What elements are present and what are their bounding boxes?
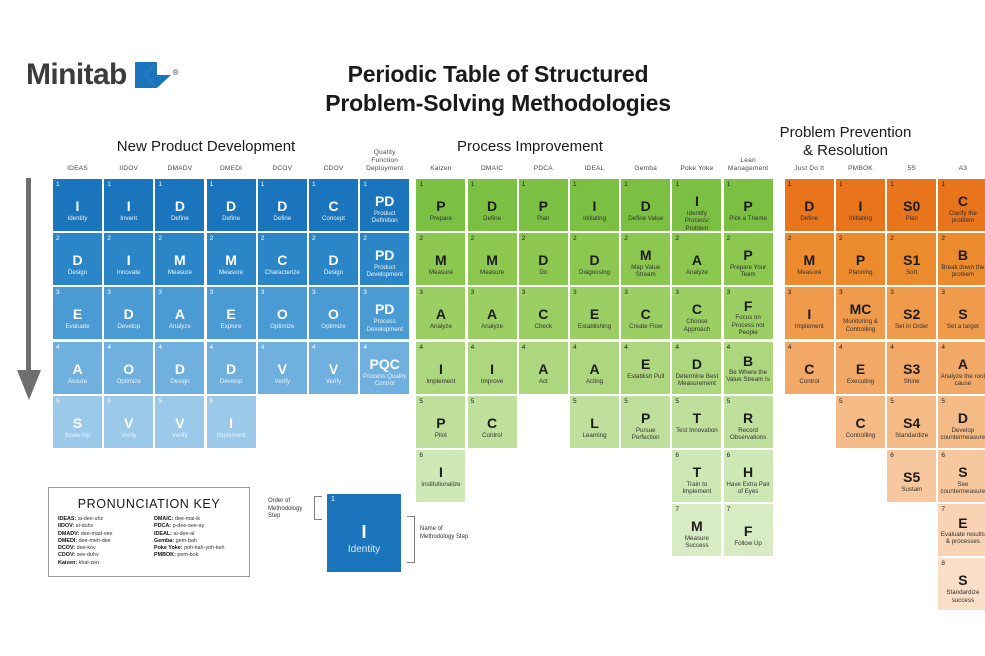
cell-step-number: 1 bbox=[419, 180, 423, 189]
infographic-canvas: Minitab ® Periodic Table of Structured P… bbox=[0, 0, 985, 656]
methodology-cell[interactable]: 4EEstablish Pull bbox=[621, 342, 670, 394]
pronunciation-entry: DCOV: dee-kov bbox=[58, 545, 144, 552]
cell-step-number: 4 bbox=[210, 343, 214, 352]
cell-symbol: M bbox=[416, 253, 465, 267]
cell-step-name: Learning bbox=[572, 432, 617, 439]
cell-step-number: 1 bbox=[675, 180, 679, 189]
column-header-line: Quality bbox=[353, 149, 416, 157]
legend-right-bracket bbox=[407, 516, 415, 563]
cell-step-name: Optimize bbox=[260, 323, 305, 330]
pronunciation-phonetic: pem-bok bbox=[176, 552, 198, 558]
cell-legend: Order of Methodology Step 1 I Identity N… bbox=[268, 486, 483, 578]
cell-symbol: PD bbox=[360, 302, 409, 316]
cell-symbol: M bbox=[672, 519, 721, 533]
cell-step-number: 1 bbox=[261, 180, 265, 189]
cell-step-name: Do bbox=[521, 269, 566, 276]
cell-step-name: Verify bbox=[157, 432, 202, 439]
methodology-cell[interactable]: 3OOptimize bbox=[309, 287, 358, 339]
pronunciation-phonetic: ai-duhv bbox=[74, 523, 93, 529]
cell-symbol: R bbox=[724, 411, 773, 425]
methodology-cell[interactable]: 7MMeasure Success bbox=[672, 504, 721, 556]
legend-sample-symbol: I bbox=[327, 522, 401, 543]
cell-step-number: 4 bbox=[522, 343, 526, 352]
pronunciation-term: IDEAL: bbox=[154, 531, 172, 537]
cell-symbol: I bbox=[416, 465, 465, 479]
methodology-cell[interactable]: 4AAssure bbox=[53, 342, 102, 394]
pronunciation-entry: IDEAS: ai-dee-uhz bbox=[58, 516, 144, 523]
methodology-cell[interactable]: 4AActing bbox=[570, 342, 619, 394]
column-header-line: Function bbox=[353, 157, 416, 165]
pronunciation-term: IDEAS: bbox=[58, 516, 76, 522]
methodology-cell[interactable]: 3IImplement bbox=[785, 287, 834, 339]
pronunciation-term: DMAIC: bbox=[154, 516, 173, 522]
cell-step-name: Verify bbox=[311, 378, 356, 385]
methodology-cell[interactable]: 1DDefine bbox=[468, 179, 517, 231]
cell-step-number: 3 bbox=[419, 288, 423, 297]
methodology-cell[interactable]: 6HHave Extra Pair of Eyes bbox=[724, 450, 773, 502]
cell-step-number: 3 bbox=[624, 288, 628, 297]
methodology-cell[interactable]: 4AAnalyze the root cause bbox=[938, 342, 985, 394]
cell-step-number: 2 bbox=[261, 234, 265, 243]
methodology-cell[interactable]: 1PPlan bbox=[519, 179, 568, 231]
cell-step-number: 2 bbox=[107, 234, 111, 243]
cell-step-number: 5 bbox=[471, 397, 475, 406]
methodology-cell[interactable]: 4IImprove bbox=[468, 342, 517, 394]
methodology-cell[interactable]: 5IImplement bbox=[207, 396, 256, 448]
pronunciation-phonetic: p-dee-see-ay bbox=[171, 523, 204, 529]
cell-step-number: 2 bbox=[312, 234, 316, 243]
methodology-cell[interactable]: 1IInitiating bbox=[570, 179, 619, 231]
cell-step-name: Control bbox=[787, 378, 832, 385]
cell-step-name: Follow Up bbox=[726, 540, 771, 547]
pronunciation-phonetic: dee-mad-vee bbox=[79, 531, 112, 537]
cell-symbol: A bbox=[519, 362, 568, 376]
methodology-cell[interactable]: 2IInnovate bbox=[104, 233, 153, 285]
cell-step-number: 4 bbox=[941, 343, 945, 352]
cell-symbol: E bbox=[53, 307, 102, 321]
methodology-cell[interactable]: 2MMeasure bbox=[155, 233, 204, 285]
cell-symbol: D bbox=[104, 307, 153, 321]
methodology-cell[interactable]: 3AAnalyze bbox=[416, 287, 465, 339]
cell-symbol: P bbox=[724, 248, 773, 262]
cell-symbol: D bbox=[938, 411, 985, 425]
cell-symbol: D bbox=[207, 362, 256, 376]
pronunciation-entry: DMAIC: dee-mai-ik bbox=[154, 516, 240, 523]
cell-step-name: Planning bbox=[838, 269, 883, 276]
methodology-cell[interactable]: 2DDo bbox=[519, 233, 568, 285]
cell-step-number: 5 bbox=[839, 397, 843, 406]
cell-symbol: P bbox=[519, 199, 568, 213]
methodology-cell[interactable]: 5CControlling bbox=[836, 396, 885, 448]
cell-symbol: I bbox=[672, 194, 721, 208]
cell-step-name: Invent bbox=[106, 215, 151, 222]
methodology-cell[interactable]: 3EExplore bbox=[207, 287, 256, 339]
methodology-cell[interactable]: 2DDiagnosing bbox=[570, 233, 619, 285]
cell-step-number: 5 bbox=[675, 397, 679, 406]
cell-step-name: Analyze bbox=[470, 323, 515, 330]
group-title-new-product-development: New Product Development bbox=[96, 138, 316, 156]
pronunciation-term: CDOV: bbox=[58, 552, 75, 558]
cell-symbol: D bbox=[570, 253, 619, 267]
methodology-cell[interactable]: 4S3Shine bbox=[887, 342, 936, 394]
cell-symbol: PD bbox=[360, 248, 409, 262]
cell-step-name: Pursue Perfection bbox=[623, 427, 668, 442]
methodology-cell[interactable]: 4DDesign bbox=[155, 342, 204, 394]
methodology-cell[interactable]: 3SSet a target bbox=[938, 287, 985, 339]
column-header-a3: A3 bbox=[931, 165, 985, 173]
minitab-arrow-logo-icon bbox=[135, 62, 171, 88]
cell-step-number: 1 bbox=[624, 180, 628, 189]
methodology-cell[interactable]: 5PPilot bbox=[416, 396, 465, 448]
methodology-cell[interactable]: 8SStandardize success bbox=[938, 558, 985, 610]
methodology-cell[interactable]: 5VVerify bbox=[155, 396, 204, 448]
methodology-cell[interactable]: 1CConcept bbox=[309, 179, 358, 231]
cell-symbol: D bbox=[155, 362, 204, 376]
cell-step-number: 4 bbox=[419, 343, 423, 352]
cell-step-number: 4 bbox=[158, 343, 162, 352]
page-title: Periodic Table of Structured Problem-Sol… bbox=[268, 60, 728, 119]
methodology-cell[interactable]: 1DDefine bbox=[258, 179, 307, 231]
cell-step-name: Set in Order bbox=[889, 323, 934, 330]
cell-symbol: S bbox=[938, 307, 985, 321]
legend-sample-cell: 1 I Identity bbox=[327, 494, 401, 572]
cell-symbol: D bbox=[309, 253, 358, 267]
cell-symbol: F bbox=[724, 299, 773, 313]
methodology-cell[interactable]: 3CCreate Flow bbox=[621, 287, 670, 339]
cell-symbol: I bbox=[104, 253, 153, 267]
cell-step-name: Map Value Stream bbox=[623, 264, 668, 279]
cell-symbol: F bbox=[724, 524, 773, 538]
arrow-head bbox=[17, 370, 41, 400]
cell-symbol: S2 bbox=[887, 307, 936, 321]
methodology-cell[interactable]: 1DDefine bbox=[785, 179, 834, 231]
methodology-cell[interactable]: 1PPrepare bbox=[416, 179, 465, 231]
cell-step-number: 1 bbox=[471, 180, 475, 189]
cell-step-number: 3 bbox=[56, 288, 60, 297]
cell-step-name: See countermeasures bbox=[940, 481, 985, 496]
methodology-cell[interactable]: 4BBe Where the Value Stream Is bbox=[724, 342, 773, 394]
cell-step-number: 5 bbox=[941, 397, 945, 406]
methodology-cell[interactable]: 2CCharacterize bbox=[258, 233, 307, 285]
cell-step-name: Create Flow bbox=[623, 323, 668, 330]
cell-step-number: 3 bbox=[941, 288, 945, 297]
cell-step-name: Design bbox=[55, 269, 100, 276]
cell-symbol: M bbox=[155, 253, 204, 267]
pronunciation-term: PDCA: bbox=[154, 523, 171, 529]
methodology-cell[interactable]: 3OOptimize bbox=[258, 287, 307, 339]
cell-symbol: V bbox=[104, 416, 153, 430]
legend-name-label: Name of Methodology Step bbox=[420, 526, 472, 541]
cell-symbol: O bbox=[104, 362, 153, 376]
cell-step-name: Measure bbox=[209, 269, 254, 276]
cell-symbol: D bbox=[258, 199, 307, 213]
methodology-cell[interactable]: 7FFollow Up bbox=[724, 504, 773, 556]
methodology-cell[interactable]: 5SScale-Up bbox=[53, 396, 102, 448]
methodology-cell[interactable]: 2PDProduct Development bbox=[360, 233, 409, 285]
cell-step-name: Have Extra Pair of Eyes bbox=[726, 481, 771, 496]
cell-symbol: S bbox=[938, 465, 985, 479]
cell-step-number: 3 bbox=[890, 288, 894, 297]
methodology-cell[interactable]: 1IIdentify Process/ Problem bbox=[672, 179, 721, 231]
methodology-cell[interactable]: 2PPlanning bbox=[836, 233, 885, 285]
legend-order-label: Order of Methodology Step bbox=[268, 498, 312, 521]
cell-step-name: Develop countermeasures bbox=[940, 427, 985, 442]
cell-symbol: P bbox=[416, 199, 465, 213]
cell-step-number: 2 bbox=[788, 234, 792, 243]
cell-step-number: 2 bbox=[419, 234, 423, 243]
cell-step-number: 4 bbox=[839, 343, 843, 352]
methodology-cell[interactable]: 5CControl bbox=[468, 396, 517, 448]
pronunciation-entry: IIDOV: ai-duhv bbox=[58, 523, 144, 530]
cell-step-name: Clarify the problem bbox=[940, 210, 985, 225]
methodology-cell[interactable]: 1CClarify the problem bbox=[938, 179, 985, 231]
cell-step-number: 2 bbox=[941, 234, 945, 243]
cell-symbol: A bbox=[155, 307, 204, 321]
cell-step-name: Break down the problem bbox=[940, 264, 985, 279]
cell-step-number: 1 bbox=[890, 180, 894, 189]
cell-step-name: Set a target bbox=[940, 323, 985, 330]
cell-step-number: 3 bbox=[363, 288, 367, 297]
column-header-line: A3 bbox=[931, 165, 985, 173]
methodology-cell[interactable]: 1DDefine Value bbox=[621, 179, 670, 231]
methodology-cell[interactable]: 1IIdentity bbox=[53, 179, 102, 231]
brand-name: Minitab bbox=[26, 58, 127, 92]
methodology-cell[interactable]: 2AAnalyze bbox=[672, 233, 721, 285]
cell-symbol: E bbox=[938, 516, 985, 530]
cell-step-name: Train to Implement bbox=[674, 481, 719, 496]
methodology-cell[interactable]: 1DDefine bbox=[207, 179, 256, 231]
methodology-cell[interactable]: 6S5Sustain bbox=[887, 450, 936, 502]
methodology-cell[interactable]: 2MMeasure bbox=[416, 233, 465, 285]
cell-step-name: Control bbox=[470, 432, 515, 439]
cell-step-name: Identify Process/ Problem bbox=[674, 210, 719, 231]
pronunciation-term: Kaizen: bbox=[58, 560, 77, 566]
pronunciation-key: PRONUNCIATION KEY IDEAS: ai-dee-uhzIIDOV… bbox=[48, 487, 250, 577]
methodology-cell[interactable]: 3DDevelop bbox=[104, 287, 153, 339]
cell-step-name: Pick a Theme bbox=[726, 215, 771, 222]
methodology-cell[interactable]: 2PPrepare Your Team bbox=[724, 233, 773, 285]
cell-step-name: Improve bbox=[470, 378, 515, 385]
cell-symbol: I bbox=[207, 416, 256, 430]
cell-step-name: Implement bbox=[787, 323, 832, 330]
cell-symbol: S bbox=[938, 573, 985, 587]
methodology-cell[interactable]: 1S0Plan bbox=[887, 179, 936, 231]
cell-step-name: Process Quality Control bbox=[362, 373, 407, 388]
cell-step-number: 3 bbox=[573, 288, 577, 297]
methodology-cell[interactable]: 5PPursue Perfection bbox=[621, 396, 670, 448]
methodology-cell[interactable]: 3AAnalyze bbox=[155, 287, 204, 339]
methodology-cell[interactable]: 5TTest Innovation bbox=[672, 396, 721, 448]
cell-symbol: P bbox=[621, 411, 670, 425]
methodology-cell[interactable]: 2MMeasure bbox=[785, 233, 834, 285]
cell-symbol: I bbox=[416, 362, 465, 376]
methodology-cell[interactable]: 6SSee countermeasures bbox=[938, 450, 985, 502]
methodology-cell[interactable]: 5RRecord Observations bbox=[724, 396, 773, 448]
cell-symbol: S0 bbox=[887, 199, 936, 213]
methodology-cell[interactable]: 4DDevelop bbox=[207, 342, 256, 394]
process-flow-arrow-icon bbox=[17, 178, 41, 404]
cell-step-number: 1 bbox=[363, 180, 367, 189]
methodology-cell[interactable]: 1DDefine bbox=[155, 179, 204, 231]
methodology-cell[interactable]: 6TTrain to Implement bbox=[672, 450, 721, 502]
methodology-cell[interactable]: 4AAct bbox=[519, 342, 568, 394]
cell-symbol: P bbox=[724, 199, 773, 213]
arrow-shaft bbox=[26, 178, 31, 373]
cell-symbol: C bbox=[672, 302, 721, 316]
cell-step-name: Executing bbox=[838, 378, 883, 385]
cell-step-name: Innovate bbox=[106, 269, 151, 276]
methodology-cell[interactable]: 4OOptimize bbox=[104, 342, 153, 394]
methodology-cell[interactable]: 3EEvaluate bbox=[53, 287, 102, 339]
cell-step-name: Optimize bbox=[311, 323, 356, 330]
pronunciation-term: PMBOK: bbox=[154, 552, 176, 558]
cell-step-number: 3 bbox=[261, 288, 265, 297]
cell-step-number: 4 bbox=[56, 343, 60, 352]
methodology-cell[interactable]: 3EEstablishing bbox=[570, 287, 619, 339]
methodology-cell[interactable]: 3CChoose Approach bbox=[672, 287, 721, 339]
methodology-cell[interactable]: 5VVerify bbox=[104, 396, 153, 448]
cell-symbol: I bbox=[468, 362, 517, 376]
cell-symbol: E bbox=[836, 362, 885, 376]
methodology-cell[interactable]: 2MMeasure bbox=[207, 233, 256, 285]
cell-step-name: Define bbox=[209, 215, 254, 222]
pronunciation-phonetic: khai-zen bbox=[77, 560, 99, 566]
methodology-cell[interactable]: 3FFocus on Process not People bbox=[724, 287, 773, 339]
cell-step-number: 4 bbox=[675, 343, 679, 352]
cell-step-name: Initiating bbox=[572, 215, 617, 222]
cell-symbol: D bbox=[207, 199, 256, 213]
cell-step-number: 1 bbox=[573, 180, 577, 189]
cell-step-number: 6 bbox=[941, 451, 945, 460]
column-header-line: Lean bbox=[717, 157, 780, 165]
cell-step-name: Prepare Your Team bbox=[726, 264, 771, 279]
cell-symbol: B bbox=[938, 248, 985, 262]
methodology-cell[interactable]: 2MMeasure bbox=[468, 233, 517, 285]
cell-step-number: 1 bbox=[107, 180, 111, 189]
cell-step-name: Acting bbox=[572, 378, 617, 385]
methodology-cell[interactable]: 1PPick a Theme bbox=[724, 179, 773, 231]
methodology-cell[interactable]: 1IInitiating bbox=[836, 179, 885, 231]
group-title-ppr-line-1: Problem Prevention bbox=[748, 124, 943, 142]
methodology-cell[interactable]: 5DDevelop countermeasures bbox=[938, 396, 985, 448]
methodology-cell[interactable]: 3MCMonitoring & Controlling bbox=[836, 287, 885, 339]
cell-step-name: Standardize success bbox=[940, 589, 985, 604]
page-title-line-2: Problem-Solving Methodologies bbox=[268, 89, 728, 118]
cell-step-number: 6 bbox=[890, 451, 894, 460]
cell-step-number: 1 bbox=[788, 180, 792, 189]
methodology-cell[interactable]: 4DDetermine Best Measurement bbox=[672, 342, 721, 394]
cell-symbol: T bbox=[672, 465, 721, 479]
methodology-cell[interactable]: 4CControl bbox=[785, 342, 834, 394]
cell-symbol: S3 bbox=[887, 362, 936, 376]
methodology-cell[interactable]: 3AAnalyze bbox=[468, 287, 517, 339]
cell-step-name: Controlling bbox=[838, 432, 883, 439]
methodology-cell[interactable]: 1PDProduct Definition bbox=[360, 179, 409, 231]
cell-symbol: B bbox=[724, 354, 773, 368]
cell-step-number: 6 bbox=[419, 451, 423, 460]
cell-step-name: Analyze bbox=[157, 323, 202, 330]
methodology-cell[interactable]: 2MMap Value Stream bbox=[621, 233, 670, 285]
cell-symbol: A bbox=[53, 362, 102, 376]
cell-symbol: D bbox=[621, 199, 670, 213]
methodology-cell[interactable]: 5S4Standardize bbox=[887, 396, 936, 448]
cell-step-name: Implement bbox=[209, 432, 254, 439]
cell-step-number: 5 bbox=[210, 397, 214, 406]
cell-step-name: Concept bbox=[311, 215, 356, 222]
cell-symbol: P bbox=[416, 416, 465, 430]
cell-step-number: 3 bbox=[471, 288, 475, 297]
cell-symbol: MC bbox=[836, 302, 885, 316]
cell-symbol: O bbox=[258, 307, 307, 321]
cell-step-name: Define Value bbox=[623, 215, 668, 222]
cell-step-name: Define bbox=[260, 215, 305, 222]
cell-step-number: 5 bbox=[419, 397, 423, 406]
cell-step-name: Evaluate bbox=[55, 323, 100, 330]
cell-step-name: Develop bbox=[106, 323, 151, 330]
cell-step-number: 2 bbox=[210, 234, 214, 243]
methodology-cell[interactable]: 3PDProcess Development bbox=[360, 287, 409, 339]
pronunciation-phonetic: dee-kov bbox=[75, 545, 96, 551]
cell-step-name: Sustain bbox=[889, 486, 934, 493]
methodology-cell[interactable]: 4IImplement bbox=[416, 342, 465, 394]
methodology-cell[interactable]: 4EExecuting bbox=[836, 342, 885, 394]
cell-symbol: A bbox=[938, 357, 985, 371]
cell-step-name: Verify bbox=[260, 378, 305, 385]
cell-step-name: Test Innovation bbox=[674, 427, 719, 434]
methodology-cell[interactable]: 3S2Set in Order bbox=[887, 287, 936, 339]
legend-left-bracket bbox=[314, 496, 322, 520]
methodology-cell[interactable]: 2BBreak down the problem bbox=[938, 233, 985, 285]
methodology-cell[interactable]: 1IInvent bbox=[104, 179, 153, 231]
cell-step-name: Analyze the root cause bbox=[940, 373, 985, 388]
cell-symbol: I bbox=[836, 199, 885, 213]
cell-step-number: 3 bbox=[158, 288, 162, 297]
cell-symbol: I bbox=[570, 199, 619, 213]
cell-symbol: D bbox=[785, 199, 834, 213]
cell-symbol: V bbox=[309, 362, 358, 376]
methodology-cell[interactable]: 7EEvaluate results & processes bbox=[938, 504, 985, 556]
methodology-cell[interactable]: 4PQCProcess Quality Control bbox=[360, 342, 409, 394]
cell-step-number: 5 bbox=[107, 397, 111, 406]
cell-symbol: E bbox=[570, 307, 619, 321]
methodology-cell[interactable]: 3CCheck bbox=[519, 287, 568, 339]
cell-step-name: Diagnosing bbox=[572, 269, 617, 276]
cell-step-number: 3 bbox=[107, 288, 111, 297]
cell-step-number: 4 bbox=[573, 343, 577, 352]
pronunciation-term: Poke Yoke: bbox=[154, 545, 183, 551]
cell-step-name: Choose Approach bbox=[674, 318, 719, 333]
cell-symbol: C bbox=[258, 253, 307, 267]
cell-step-number: 1 bbox=[56, 180, 60, 189]
methodology-cell[interactable]: 4VVerify bbox=[258, 342, 307, 394]
group-title-problem-prevention-resolution: Problem Prevention & Resolution bbox=[748, 124, 943, 161]
cell-step-number: 4 bbox=[788, 343, 792, 352]
cell-step-number: 2 bbox=[158, 234, 162, 243]
cell-step-number: 3 bbox=[839, 288, 843, 297]
cell-step-name: Act bbox=[521, 378, 566, 385]
column-header-lean-management: LeanManagement bbox=[717, 157, 780, 173]
cell-step-name: Record Observations bbox=[726, 427, 771, 442]
pronunciation-entry: CDOV: see-duhv bbox=[58, 552, 144, 559]
methodology-cell[interactable]: 2DDesign bbox=[309, 233, 358, 285]
pronunciation-term: Gemba: bbox=[154, 538, 174, 544]
pronunciation-term: DMADV: bbox=[58, 531, 79, 537]
methodology-cell[interactable]: 2DDesign bbox=[53, 233, 102, 285]
cell-symbol: I bbox=[785, 307, 834, 321]
methodology-cell[interactable]: 4VVerify bbox=[309, 342, 358, 394]
methodology-cell[interactable]: 5LLearning bbox=[570, 396, 619, 448]
methodology-cell[interactable]: 2S1Sort bbox=[887, 233, 936, 285]
